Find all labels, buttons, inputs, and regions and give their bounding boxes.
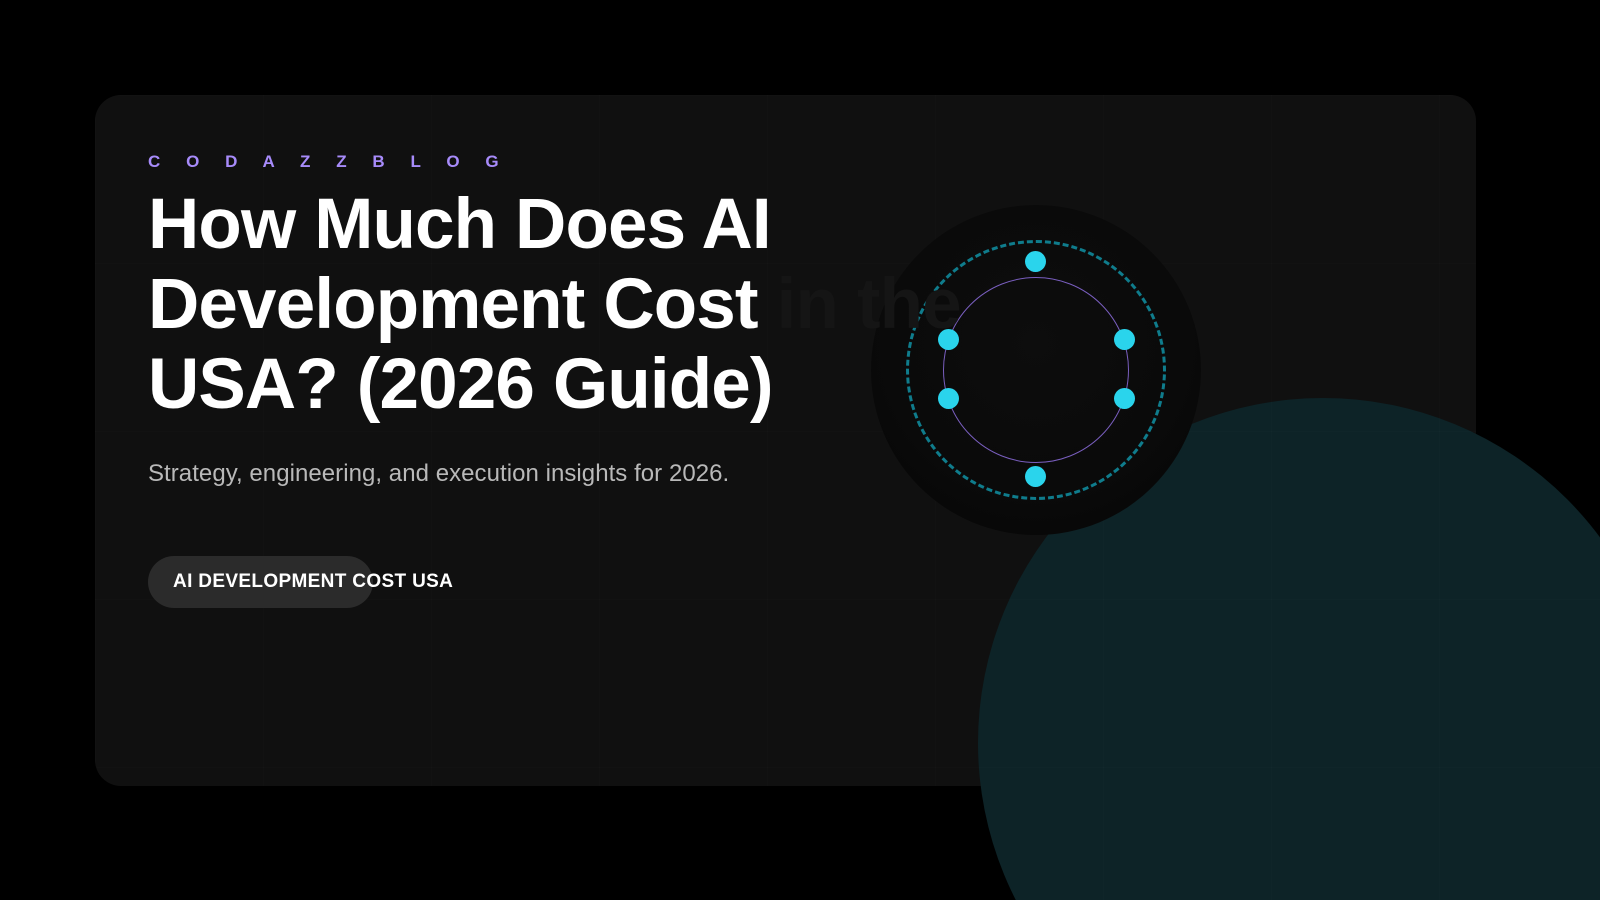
- orbit-dot-lower-right: [1114, 388, 1135, 409]
- category-tag-label[interactable]: AI DEVELOPMENT COST USA: [173, 556, 453, 608]
- hero-banner: C O D A Z Z B L O G How Much Does AI Dev…: [0, 0, 1600, 900]
- hero-content: C O D A Z Z B L O G How Much Does AI Dev…: [148, 153, 1048, 608]
- tag-row: AI DEVELOPMENT COST USA: [148, 556, 1048, 608]
- headline-line-2-ghost: in the: [758, 265, 961, 344]
- headline-line-2-visible: Development Cost: [148, 265, 758, 344]
- brand-eyebrow: C O D A Z Z B L O G: [148, 153, 1048, 172]
- headline-line-1: How Much Does AI: [148, 185, 1048, 265]
- page-title: How Much Does AI Development Cost in the…: [148, 185, 1048, 426]
- headline-line-3: USA? (2026 Guide): [148, 345, 1048, 425]
- hero-subtitle: Strategy, engineering, and execution ins…: [148, 458, 1048, 490]
- orbit-dot-upper-right: [1114, 329, 1135, 350]
- headline-line-2: Development Cost in the: [148, 265, 1048, 345]
